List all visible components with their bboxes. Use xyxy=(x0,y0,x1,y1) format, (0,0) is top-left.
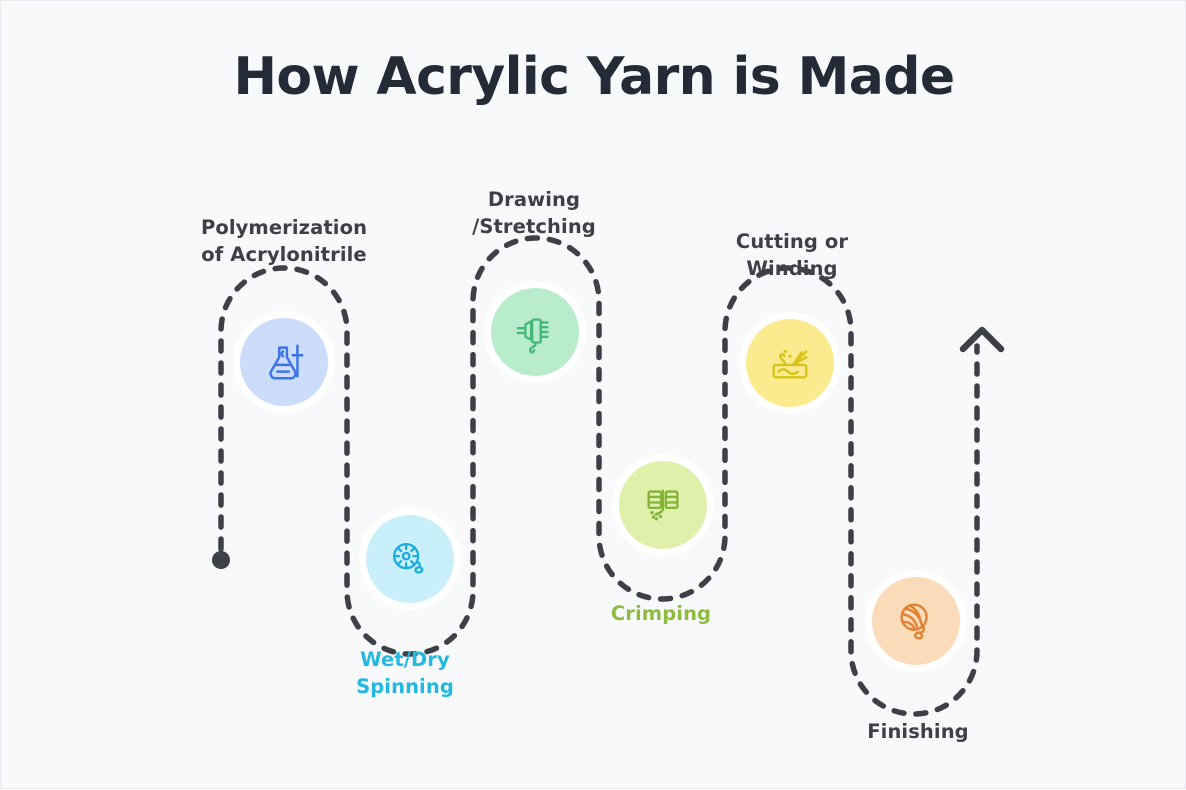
step-label-drawing-stretching: Drawing /Stretching xyxy=(404,187,664,241)
spinneret-icon xyxy=(387,536,433,582)
cutting-icon xyxy=(767,340,813,386)
infographic-canvas: How Acrylic Yarn is Made xyxy=(1,1,1186,790)
step-label-crimping: Crimping xyxy=(531,601,791,628)
step-label-finishing: Finishing xyxy=(788,719,1048,746)
drawing-fiber-icon xyxy=(512,309,558,355)
step-icon-circle-cutting-winding[interactable] xyxy=(746,319,834,407)
infographic-frame: How Acrylic Yarn is Made xyxy=(0,0,1186,789)
yarn-ball-icon xyxy=(893,598,939,644)
crimping-icon xyxy=(640,482,686,528)
step-icon-circle-drawing-stretching[interactable] xyxy=(491,288,579,376)
step-icon-circle-wet-dry-spinning[interactable] xyxy=(366,515,454,603)
start-dot xyxy=(212,551,230,569)
flow-path-diagram xyxy=(1,1,1186,790)
page-title: How Acrylic Yarn is Made xyxy=(1,49,1186,106)
step-label-polymerization: Polymerization of Acrylonitrile xyxy=(154,215,414,269)
arrow-up-icon xyxy=(963,330,1001,349)
flask-icon xyxy=(261,339,307,385)
step-label-wet-dry-spinning: Wet/Dry Spinning xyxy=(275,647,535,701)
step-icon-circle-crimping[interactable] xyxy=(619,461,707,549)
flow-path xyxy=(221,238,977,714)
step-icon-circle-finishing[interactable] xyxy=(872,577,960,665)
step-icon-circle-polymerization[interactable] xyxy=(240,318,328,406)
step-label-cutting-winding: Cutting or Winding xyxy=(662,229,922,283)
